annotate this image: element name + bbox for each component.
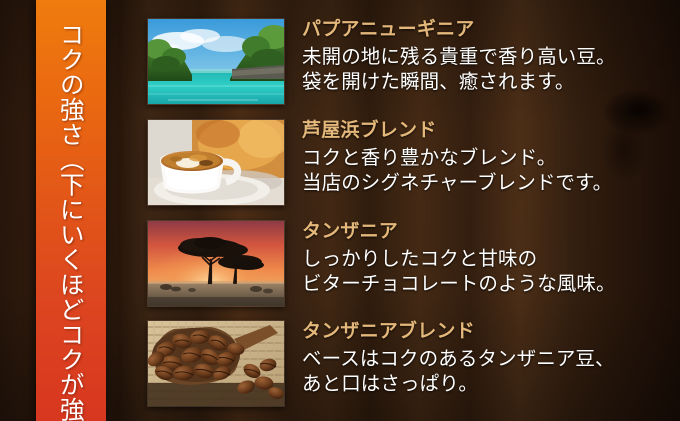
item-title: タンザニアブレンド <box>302 320 615 344</box>
item-description-line: あと口はさっぱり。 <box>302 371 615 397</box>
item-description-line: ベースはコクのあるタンザニア豆、 <box>302 346 615 372</box>
item-title: タンザニア <box>302 220 616 244</box>
strength-banner: コクの強さ（下にいくほどコクが強め） <box>36 0 106 421</box>
item-description-line: しっかりしたコクと甘味の <box>302 246 616 272</box>
item-description-line: 当店のシグネチャーブレンドです。 <box>302 170 612 196</box>
item-description-line: ビターチョコレートのような風味。 <box>302 271 616 297</box>
coffee-beans-photo <box>147 320 285 407</box>
tropical-lagoon-photo <box>147 18 285 105</box>
item-description: しっかりしたコクと甘味の ビターチョコレートのような風味。 <box>302 246 616 298</box>
list-item[interactable]: タンザニアブレンド ベースはコクのあるタンザニア豆、 あと口はさっぱり。 <box>147 320 615 407</box>
item-title: パプアニューギニア <box>302 18 616 42</box>
item-text-block: 芦屋浜ブレンド コクと香り豊かなブレンド。 当店のシグネチャーブレンドです。 <box>302 119 612 196</box>
item-description: ベースはコクのあるタンザニア豆、 あと口はさっぱり。 <box>302 346 615 398</box>
coffee-cup-photo <box>147 119 285 206</box>
item-title: 芦屋浜ブレンド <box>302 119 612 143</box>
list-item[interactable]: 芦屋浜ブレンド コクと香り豊かなブレンド。 当店のシグネチャーブレンドです。 <box>147 119 612 206</box>
item-description-line: 袋を開けた瞬間、癒されます。 <box>302 69 616 95</box>
item-description-line: コクと香り豊かなブレンド。 <box>302 145 612 171</box>
item-description-line: 未開の地に残る貴重で香り高い豆。 <box>302 44 616 70</box>
list-item[interactable]: パプアニューギニア 未開の地に残る貴重で香り高い豆。 袋を開けた瞬間、癒されます… <box>147 18 616 105</box>
strength-banner-label: コクの強さ（下にいくほどコクが強め） <box>57 22 84 421</box>
coffee-item-list: パプアニューギニア 未開の地に残る貴重で香り高い豆。 袋を開けた瞬間、癒されます… <box>147 0 680 421</box>
item-description: 未開の地に残る貴重で香り高い豆。 袋を開けた瞬間、癒されます。 <box>302 44 616 96</box>
item-text-block: パプアニューギニア 未開の地に残る貴重で香り高い豆。 袋を開けた瞬間、癒されます… <box>302 18 616 95</box>
list-item[interactable]: タンザニア しっかりしたコクと甘味の ビターチョコレートのような風味。 <box>147 220 616 307</box>
item-description: コクと香り豊かなブレンド。 当店のシグネチャーブレンドです。 <box>302 145 612 197</box>
savanna-sunset-photo <box>147 220 285 307</box>
item-text-block: タンザニアブレンド ベースはコクのあるタンザニア豆、 あと口はさっぱり。 <box>302 320 615 397</box>
coffee-lineup-panel: コクの強さ（下にいくほどコクが強め） <box>0 0 680 421</box>
item-text-block: タンザニア しっかりしたコクと甘味の ビターチョコレートのような風味。 <box>302 220 616 297</box>
